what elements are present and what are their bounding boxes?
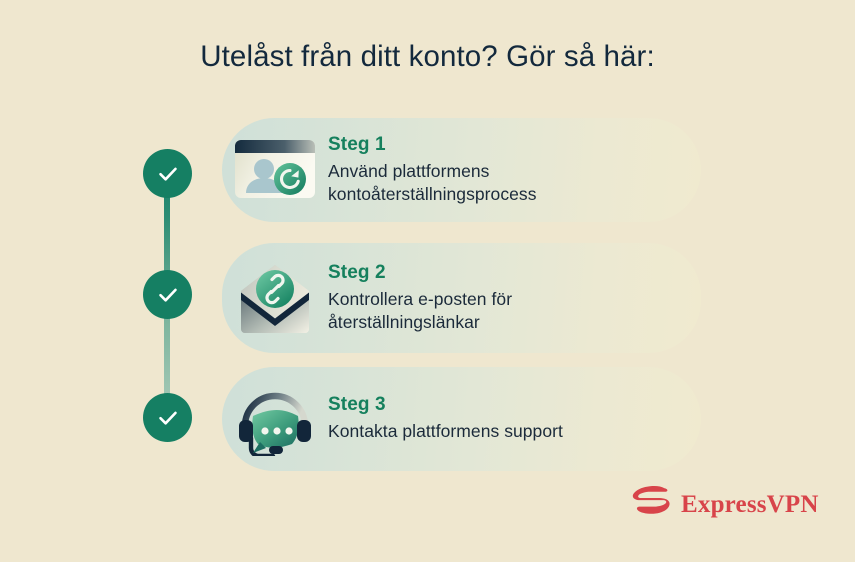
step-3-description: Kontakta plattformens support [328,420,683,443]
check-icon [155,405,181,431]
step-1-description: Använd plattformens kontoåterställningsp… [328,160,683,207]
step-card-3-text: Steg 3 Kontakta plattformens support [328,394,701,443]
expressvpn-logo: ExpressVPN [630,485,819,524]
check-icon [155,161,181,187]
step-2-description-line-2: återställningslänkar [328,311,683,334]
timeline-node-step-1 [143,149,192,198]
id-card-person-refresh-icon [222,136,328,204]
step-1-description-line-1: Använd plattformens [328,161,489,181]
step-1-label: Steg 1 [328,134,683,156]
step-card-1-text: Steg 1 Använd plattformens kontoåterstäl… [328,134,701,206]
timeline-node-step-3 [143,393,192,442]
check-icon [155,282,181,308]
step-card-2: Steg 2 Kontrollera e-posten för återstäl… [222,243,701,353]
timeline-node-step-2 [143,270,192,319]
step-card-3: Steg 3 Kontakta plattformens support [222,367,701,471]
page-title: Utelåst från ditt konto? Gör så här: [0,40,855,74]
step-2-label: Steg 2 [328,262,683,284]
step-3-description-line-1: Kontakta plattformens support [328,421,563,441]
open-envelope-link-icon [222,259,328,337]
infographic-root: Utelåst från ditt konto? Gör så här: [0,0,855,562]
step-2-description-line-1: Kontrollera e-posten för [328,289,512,309]
step-card-1: Steg 1 Använd plattformens kontoåterstäl… [222,118,701,222]
expressvpn-wordmark: ExpressVPN [681,492,819,517]
step-1-description-line-2: kontoåterställningsprocess [328,183,683,206]
step-3-label: Steg 3 [328,394,683,416]
support-headset-chat-icon [222,382,328,456]
expressvpn-logo-mark [630,485,672,524]
step-card-2-text: Steg 2 Kontrollera e-posten för återstäl… [328,262,701,334]
step-2-description: Kontrollera e-posten för återställningsl… [328,288,683,335]
